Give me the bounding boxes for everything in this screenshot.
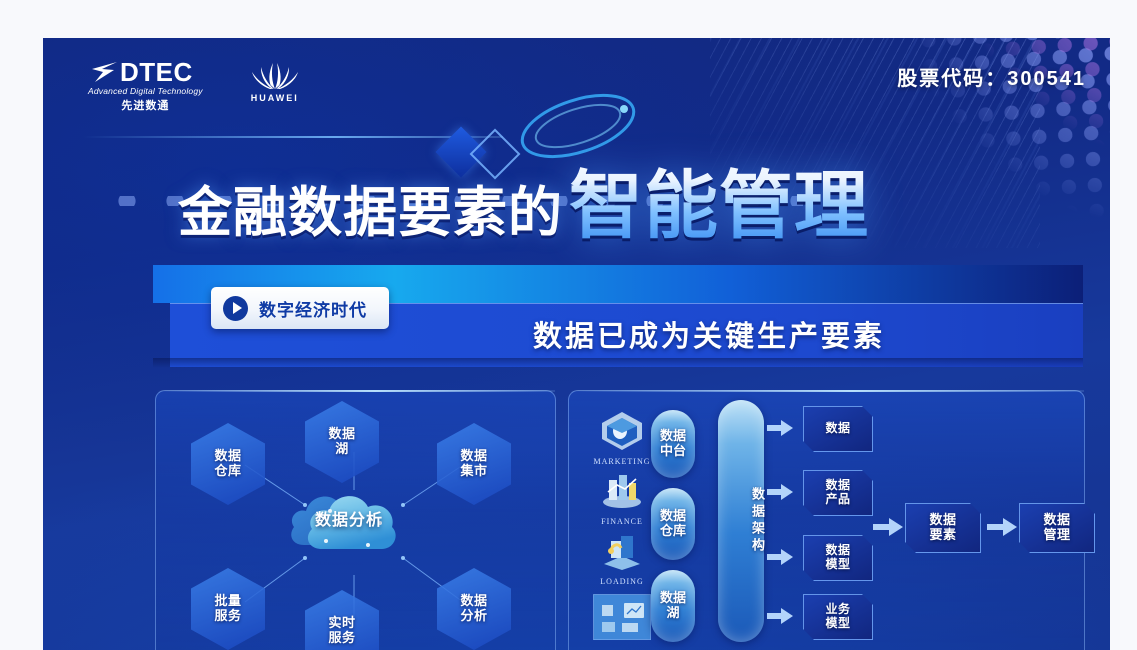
arrow-icon [767,484,793,500]
marketing-cube-icon [599,410,645,450]
pill-data-warehouse[interactable]: 数据 仓库 [651,488,695,560]
hex-label-line1: 数据 [460,449,487,464]
dtec-wordmark: DTEC [120,60,193,84]
outbox-data[interactable]: 数据 [803,406,873,452]
outbox-data-model[interactable]: 数据 模型 [803,535,873,581]
outbox-label-line2: 模型 [825,558,850,572]
dtec-logo: DTEC Advanced Digital Technology 先进数通 [88,60,203,113]
hex-label-line1: 批量 [214,594,241,609]
hex-label-line2: 仓库 [214,464,241,479]
source-marketing[interactable]: MARKETING [591,410,653,466]
arrow-icon [873,518,903,536]
arrow-icon [767,549,793,565]
hex-label-line2: 集市 [460,464,487,479]
section-tag-label: 数字经济时代 [259,296,367,321]
pill-label: 数据 中台 [660,429,686,458]
hex-label-line1: 实时 [328,616,355,631]
subtitle-headline: 数据已成为关键生产要素 [533,306,1053,362]
dtec-tagline: Advanced Digital Technology [88,86,203,96]
glow-line-decoration [83,136,503,138]
outbox-label-line1: 数据 [825,479,850,493]
result-label-line1: 数据 [929,513,956,528]
main-title-part2: 智能管理 [569,146,869,253]
source-data-screen[interactable] [593,594,651,640]
loading-server-icon [599,530,645,570]
result-label-line2: 管理 [1043,528,1070,543]
screenshot-root: DTEC Advanced Digital Technology 先进数通 [0,0,1137,650]
outbox-data-product[interactable]: 数据 产品 [803,470,873,516]
pill-label: 数据 仓库 [660,509,686,538]
hex-label-line1: 数据 [328,427,355,442]
pill-data-midplatform[interactable]: 数据 中台 [651,410,695,478]
section-tag[interactable]: 数字经济时代 [211,287,389,329]
source-caption: FINANCE [591,517,653,526]
source-caption: LOADING [591,577,653,586]
huawei-logo: HUAWEI [243,60,307,103]
source-loading[interactable]: LOADING [591,530,653,586]
outbox-label-line2: 模型 [825,617,850,631]
result-label-line1: 数据 [1043,513,1070,528]
outbox-label-line2: 产品 [825,493,850,507]
pill-label-line1: 数据 [660,508,686,523]
arrow-icon [767,420,793,436]
outbox-label-line1: 业务 [825,603,850,617]
outbox-label-line1: 数据 [825,544,850,558]
data-screen-icon [594,595,650,639]
result-box-data-element[interactable]: 数据 要素 [905,503,981,553]
pill-label-line1: 数据 [660,428,686,443]
left-panel-bottom-chevron [143,644,568,650]
source-finance[interactable]: FINANCE [591,470,653,526]
pill-label-line2: 中台 [660,443,686,458]
right-panel-bottom-chevron [556,644,1096,650]
hex-label-line1: 数据 [460,594,487,609]
hex-label-line2: 湖 [335,442,349,457]
play-icon [223,296,248,321]
arrow-icon [987,518,1017,536]
result-label-line2: 要素 [929,528,956,543]
hex-label-line2: 分析 [460,609,487,624]
pill-data-architecture[interactable]: 数据架构 [718,400,764,642]
dtec-chinese-name: 先进数通 [88,97,203,113]
pill-label-line1: 数据 [660,590,686,605]
pill-label-line2: 仓库 [660,523,686,538]
dtec-arrow-icon [88,60,118,84]
outbox-label-line1: 数据 [825,422,850,436]
huawei-wordmark: HUAWEI [243,93,307,103]
arrow-icon [767,608,793,624]
outbox-business-model[interactable]: 业务 模型 [803,594,873,640]
stock-code-label: 股票代码：300541 [897,62,1086,91]
source-caption: MARKETING [591,457,653,466]
result-box-data-management[interactable]: 数据 管理 [1019,503,1095,553]
pill-label: 数据 湖 [660,591,686,620]
pill-data-lake[interactable]: 数据 湖 [651,570,695,642]
finance-chart-icon [599,470,645,510]
logo-group: DTEC Advanced Digital Technology 先进数通 [88,60,307,113]
hex-label-line1: 数据 [214,449,241,464]
hex-label-line2: 服务 [214,609,241,624]
center-cloud-label: 数据分析 [286,475,398,567]
panel-top-highlight [569,390,1084,392]
main-title: 金融数据要素的 智能管理 [178,146,869,253]
huawei-flower-icon [251,60,299,90]
presentation-slide: DTEC Advanced Digital Technology 先进数通 [43,38,1110,650]
pill-label-line2: 湖 [666,605,679,620]
center-cloud-node[interactable]: 数据分析 [286,475,398,567]
main-title-part1: 金融数据要素的 [178,168,563,247]
